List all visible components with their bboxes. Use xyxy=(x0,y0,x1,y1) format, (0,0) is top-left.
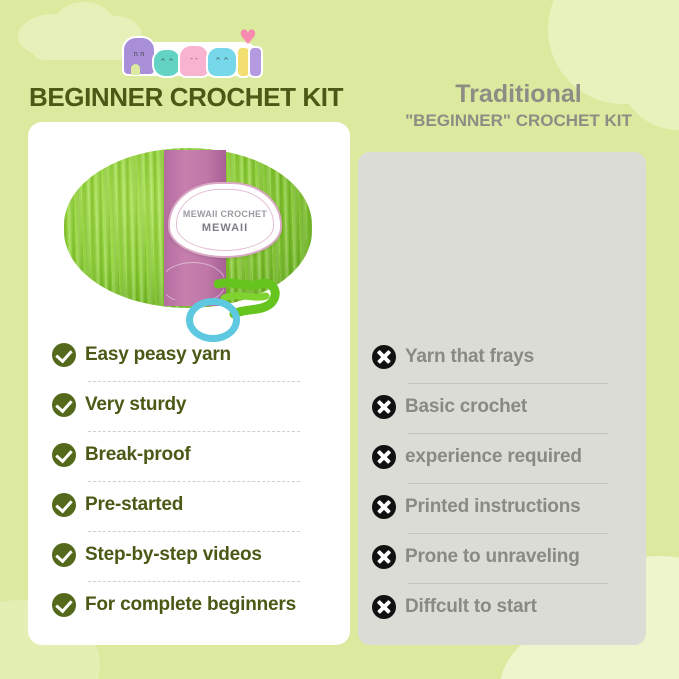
logo-face-e: ^ ^ xyxy=(154,58,180,66)
check-circle-icon xyxy=(52,493,76,517)
heart-icon: ♥ xyxy=(238,28,258,46)
list-item: Pre-started xyxy=(52,484,332,534)
logo-letter-m: n n xyxy=(122,36,156,76)
list-item: Diffcult to start xyxy=(372,586,634,636)
list-item: Yarn that frays xyxy=(372,336,634,386)
right-column-subtitle: "BEGINNER" CROCHET KIT xyxy=(358,111,679,131)
check-circle-icon xyxy=(52,393,76,417)
x-circle-icon xyxy=(372,495,396,519)
check-circle-icon xyxy=(52,443,76,467)
row-divider xyxy=(408,533,608,534)
x-circle-icon xyxy=(372,545,396,569)
list-item: Easy peasy yarn xyxy=(52,334,332,384)
green-yarn-ball-image: MEWAII CROCHET MEWAII xyxy=(46,140,336,335)
list-item: experience required xyxy=(372,436,634,486)
logo-face-w: - - xyxy=(180,55,208,63)
logo-letter-i-second xyxy=(248,46,263,78)
list-item: Very sturdy xyxy=(52,384,332,434)
check-circle-icon xyxy=(52,593,76,617)
feature-label: Pre-started xyxy=(85,494,183,516)
yarn-label-brand: MEWAII CROCHET xyxy=(170,209,280,219)
list-item: Prone to unraveling xyxy=(372,536,634,586)
drawback-label: Prone to unraveling xyxy=(405,546,580,568)
feature-label: Step-by-step videos xyxy=(85,544,262,566)
list-item: Break-proof xyxy=(52,434,332,484)
row-divider xyxy=(408,383,608,384)
logo-face-m: n n xyxy=(124,50,154,58)
row-divider xyxy=(88,531,300,532)
yarn-label-name: MEWAII xyxy=(170,222,280,234)
row-divider xyxy=(88,431,300,432)
drawback-label: Yarn that frays xyxy=(405,346,534,368)
logo-face-a: ^ ^ xyxy=(208,57,236,65)
drawback-label: experience required xyxy=(405,446,582,468)
check-circle-icon xyxy=(52,343,76,367)
row-divider xyxy=(88,381,300,382)
left-column-title: BEGINNER CROCHET KIT xyxy=(0,82,372,113)
row-divider xyxy=(408,583,608,584)
drawback-label: Printed instructions xyxy=(405,496,580,518)
cloud-decoration-top-right xyxy=(600,0,679,70)
list-item: Basic crochet xyxy=(372,386,634,436)
feature-label: Easy peasy yarn xyxy=(85,344,231,366)
feature-label: Break-proof xyxy=(85,444,190,466)
row-divider xyxy=(408,483,608,484)
mewaii-logo: ♥ n n ^ ^ - - ^ ^ xyxy=(116,26,264,78)
check-circle-icon xyxy=(52,543,76,567)
feature-label: Very sturdy xyxy=(85,394,186,416)
right-column-title: Traditional xyxy=(358,80,679,109)
list-item: Step-by-step videos xyxy=(52,534,332,584)
logo-letter-a: ^ ^ xyxy=(206,46,238,78)
row-divider xyxy=(88,481,300,482)
mewaii-feature-list: Easy peasy yarn Very sturdy Break-proof … xyxy=(52,334,332,634)
x-circle-icon xyxy=(372,395,396,419)
x-circle-icon xyxy=(372,445,396,469)
comparison-infographic: ♥ n n ^ ^ - - ^ ^ BEGINNER CROCHET KIT T… xyxy=(0,0,679,679)
feature-label: For complete beginners xyxy=(85,594,296,616)
x-circle-icon xyxy=(372,345,396,369)
x-circle-icon xyxy=(372,595,396,619)
drawback-label: Basic crochet xyxy=(405,396,527,418)
yarn-label: MEWAII CROCHET MEWAII xyxy=(168,182,282,258)
list-item: For complete beginners xyxy=(52,584,332,634)
cloud-decoration-top-left xyxy=(52,2,116,54)
traditional-drawback-list: Yarn that frays Basic crochet experience… xyxy=(372,336,634,636)
list-item: Printed instructions xyxy=(372,486,634,536)
row-divider xyxy=(88,581,300,582)
cloud-decoration-top-left xyxy=(18,14,90,58)
row-divider xyxy=(408,433,608,434)
drawback-label: Diffcult to start xyxy=(405,596,537,618)
